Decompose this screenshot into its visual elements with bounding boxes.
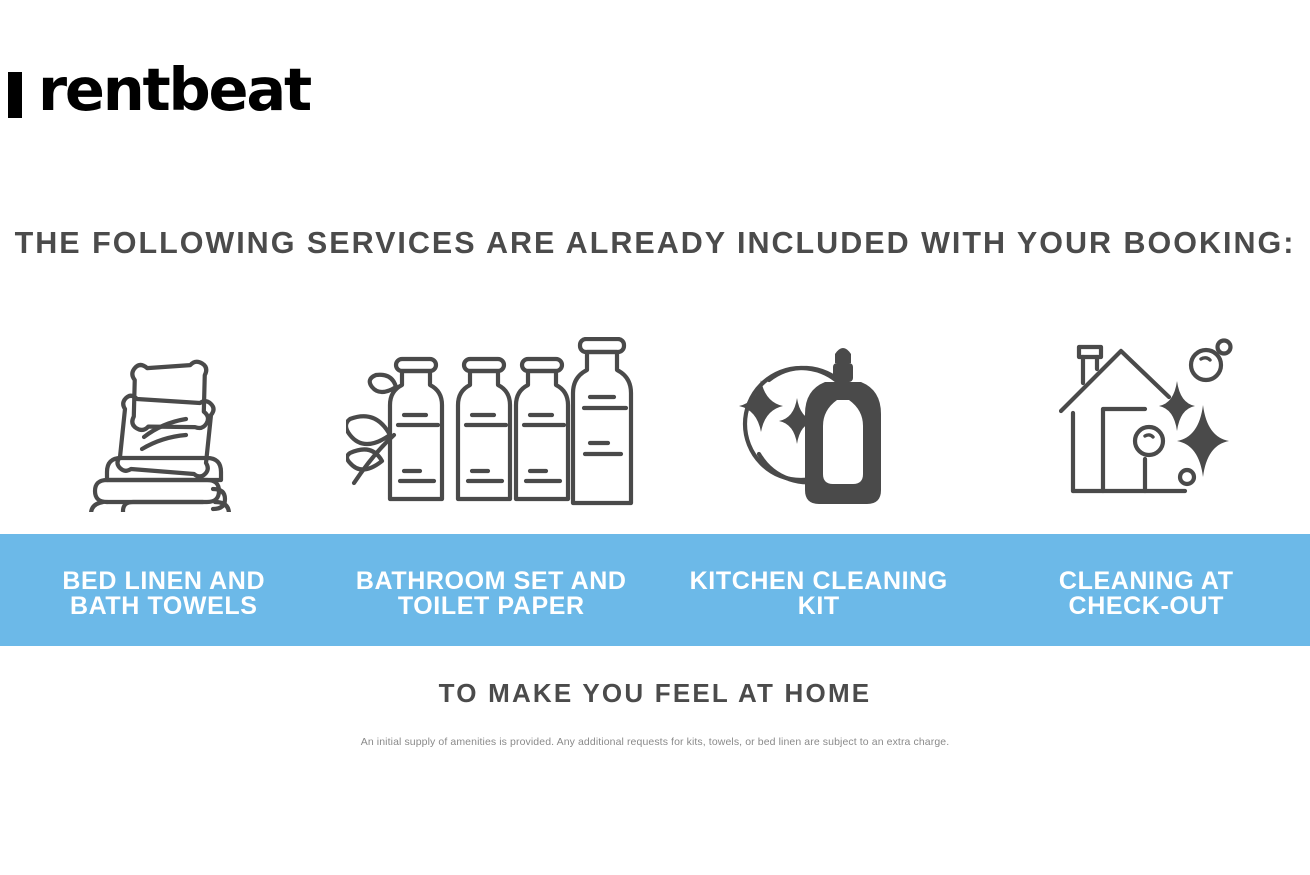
- brand-name: rentbeat: [38, 60, 310, 119]
- service-label-band: BED LINEN AND BATH TOWELS BATHROOM SET A…: [0, 534, 1310, 646]
- service-label-bathroom-set: BATHROOM SET AND TOILET PAPER: [356, 569, 627, 619]
- service-icon-row: [0, 322, 1310, 522]
- page-title: THE FOLLOWING SERVICES ARE ALREADY INCLU…: [0, 226, 1310, 261]
- rentbeat-mark-icon: [0, 56, 24, 118]
- service-icon-cell-1: [328, 322, 656, 522]
- service-label-bed-linen: BED LINEN AND BATH TOWELS: [62, 569, 265, 619]
- sparkling-house-icon: [1059, 337, 1234, 507]
- dish-soap-and-sparkling-plate-icon: [739, 332, 899, 512]
- brand-logo[interactable]: rentbeat: [0, 52, 310, 122]
- service-label-cell-1: BATHROOM SET AND TOILET PAPER: [328, 534, 656, 646]
- service-icon-cell-0: [0, 322, 328, 522]
- service-label-cleaning-at-checkout: CLEANING AT CHECK-OUT: [1059, 569, 1234, 619]
- footer-tagline: TO MAKE YOU FEEL AT HOME: [0, 678, 1310, 709]
- pillows-and-folded-towels-icon: [89, 332, 239, 512]
- footer-disclaimer: An initial supply of amenities is provid…: [0, 736, 1310, 748]
- service-label-kitchen-cleaning-kit: KITCHEN CLEANING KIT: [690, 569, 948, 619]
- service-icon-cell-3: [983, 322, 1310, 522]
- service-label-cell-0: BED LINEN AND BATH TOWELS: [0, 534, 328, 646]
- service-label-cell-2: KITCHEN CLEANING KIT: [655, 534, 983, 646]
- service-label-cell-3: CLEANING AT CHECK-OUT: [983, 534, 1310, 646]
- logo-bar-right: [8, 72, 22, 118]
- toiletry-bottles-icon: [346, 337, 636, 507]
- service-icon-cell-2: [655, 322, 983, 522]
